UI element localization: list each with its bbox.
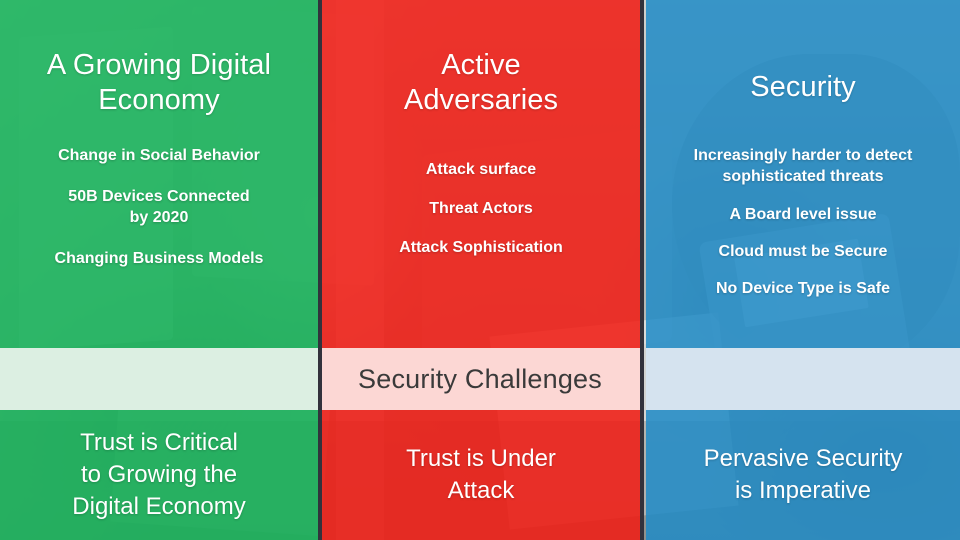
bullet-adversaries-1: Attack surface (336, 159, 626, 180)
heading-adversaries: Active Adversaries (404, 48, 558, 119)
bullet-security-1: Increasingly harder to detect sophistica… (660, 145, 946, 187)
security-challenges-band: Security Challenges (0, 348, 960, 410)
bullet-growth-1: Change in Social Behavior (14, 145, 304, 166)
bullet-security-3: Cloud must be Secure (660, 241, 946, 262)
band-title: Security Challenges (0, 348, 960, 410)
panel-bottom-growth: Trust is Critical to Growing the Digital… (0, 410, 318, 540)
bullet-list-adversaries: Attack surface Threat Actors Attack Soph… (336, 159, 626, 276)
bullet-list-growth: Change in Social Behavior 50B Devices Co… (14, 145, 304, 289)
panel-bottom-security: Pervasive Security is Imperative (646, 410, 960, 540)
panel-top-security: Security Increasingly harder to detect s… (646, 0, 960, 348)
panel-bottom-adversaries: Trust is Under Attack (322, 410, 640, 540)
panel-top-growth: A Growing Digital Economy Change in Soci… (0, 0, 318, 348)
slide-canvas: A Growing Digital Economy Change in Soci… (0, 0, 960, 540)
bullet-security-4: No Device Type is Safe (660, 278, 946, 299)
bullet-security-2: A Board level issue (660, 204, 946, 225)
footer-security: Pervasive Security is Imperative (704, 443, 903, 506)
bullet-adversaries-3: Attack Sophistication (336, 237, 626, 258)
bullet-list-security: Increasingly harder to detect sophistica… (660, 145, 946, 315)
bullet-growth-3: Changing Business Models (14, 248, 304, 269)
panel-top-adversaries: Active Adversaries Attack surface Threat… (322, 0, 640, 348)
heading-security: Security (750, 70, 856, 105)
footer-adversaries: Trust is Under Attack (406, 443, 556, 506)
bullet-adversaries-2: Threat Actors (336, 198, 626, 219)
column-divider-right (640, 0, 644, 540)
footer-growth: Trust is Critical to Growing the Digital… (72, 427, 245, 522)
bullet-growth-2: 50B Devices Connected by 2020 (14, 186, 304, 228)
heading-growth: A Growing Digital Economy (47, 48, 271, 119)
